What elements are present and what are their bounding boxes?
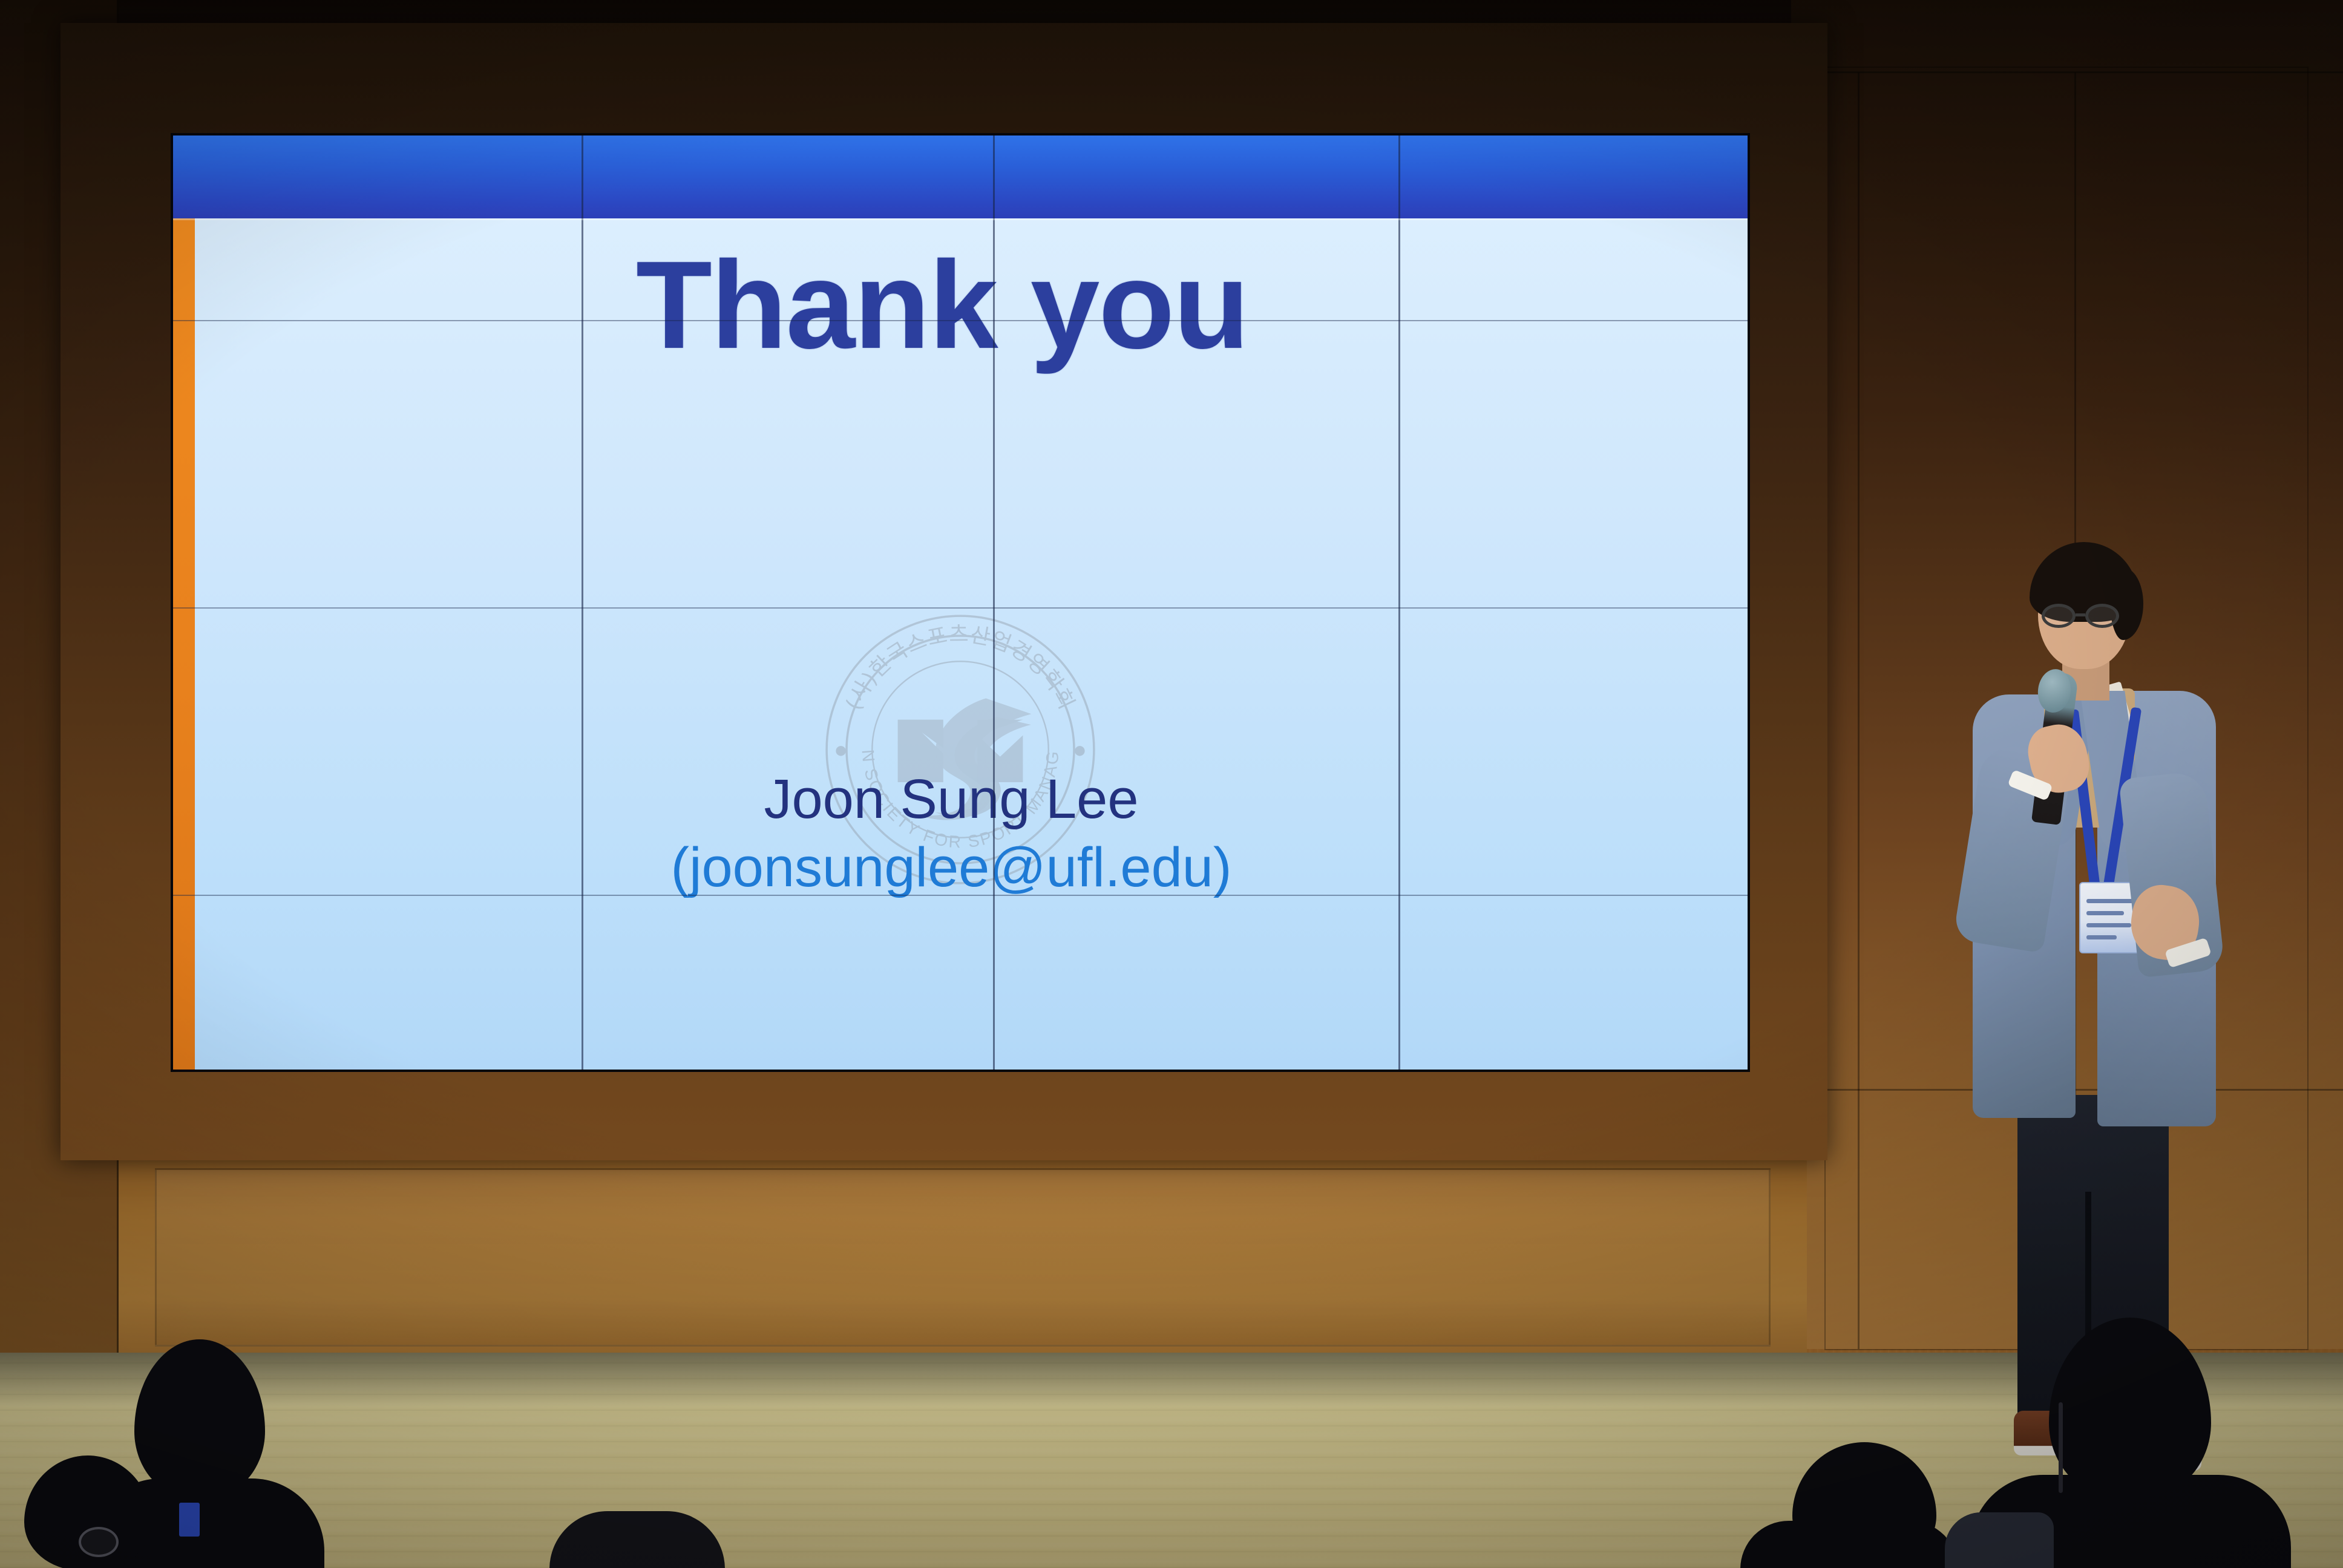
presenter-glasses-right-lens	[2085, 604, 2119, 628]
wall-lower-panel-moulding	[155, 1168, 1771, 1347]
video-wall-bezel-v3	[1398, 136, 1400, 1070]
video-wall-bezel-h4	[173, 895, 1748, 896]
presenter-hair-side	[2109, 567, 2143, 640]
presenter-glasses-bridge	[2076, 613, 2085, 616]
video-wall-display[interactable]: (사)한국스포츠산업경영학회 KOREAN SOCIETY FOR SPORT …	[173, 136, 1748, 1070]
video-wall-bezel-h2	[173, 320, 1748, 321]
presenter-figure	[1967, 532, 2221, 1458]
conference-presentation-photo: (사)한국스포츠산업경영학회 KOREAN SOCIETY FOR SPORT …	[0, 0, 2343, 1568]
projection-screen-frame: (사)한국스포츠산업경영학회 KOREAN SOCIETY FOR SPORT …	[61, 23, 1827, 1160]
svg-text:(사)한국스포츠산업경영학회: (사)한국스포츠산업경영학회	[841, 622, 1080, 714]
presenter-email-text[interactable]: (joonsunglee@ufl.edu)	[173, 836, 1748, 900]
video-wall-bezel-v2	[993, 136, 995, 1070]
video-wall-bezel-h1	[173, 218, 1748, 220]
presenter-name-text: Joon Sung Lee	[173, 768, 1748, 831]
earpiece-icon	[2059, 1402, 2063, 1493]
wall-lower-panel	[119, 1152, 1807, 1361]
slide-header-band	[173, 136, 1748, 218]
slide-title: Thank you	[173, 241, 1748, 368]
presenter-glasses-left-lens	[2042, 604, 2076, 628]
presentation-slide: (사)한국스포츠산업경영학회 KOREAN SOCIETY FOR SPORT …	[173, 136, 1748, 1070]
video-wall-bezel-v1	[582, 136, 583, 1070]
video-wall-bezel-h3	[173, 607, 1748, 609]
